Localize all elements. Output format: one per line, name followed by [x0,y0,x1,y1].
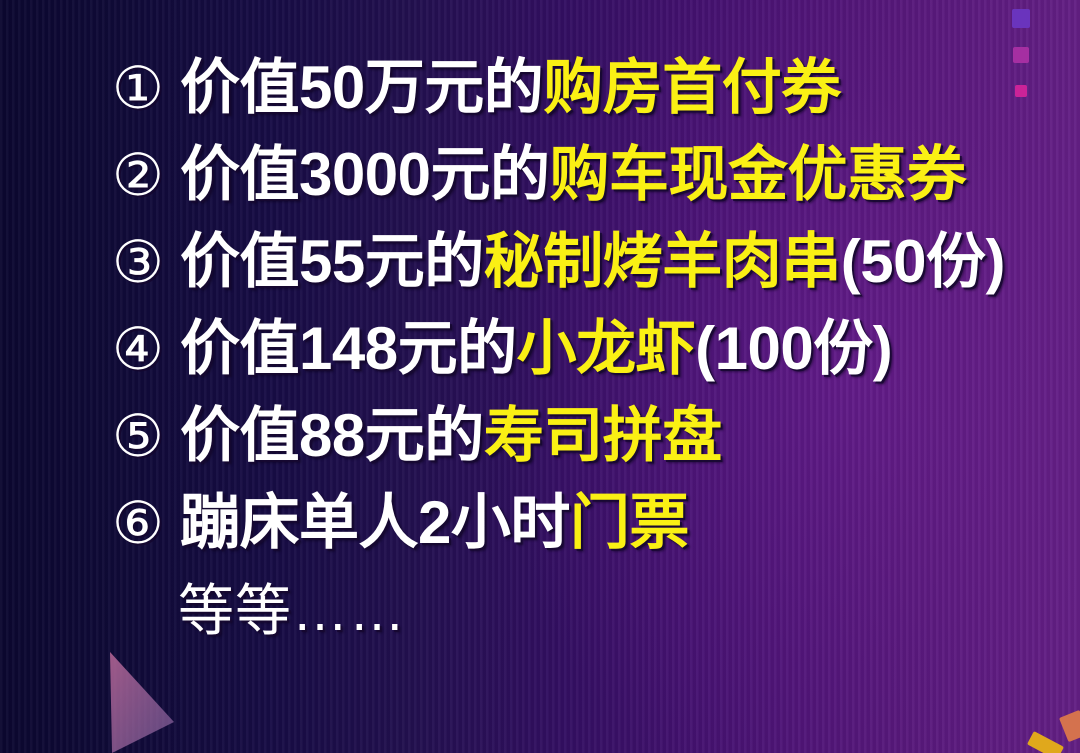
prize-list-item-5: ⑤ 价值88元的 寿司拼盘 [112,406,722,466]
promo-slide: ① 价值50万元的 购房首付券 ② 价值3000元的 购车现金优惠券 ③ 价值5… [0,0,1080,753]
prize-text-4a: 价值148元的 [180,319,517,379]
list-marker-1: ① [112,60,164,118]
prize-list-item-3: ③ 价值55元的 秘制烤羊肉串 (50份) [112,232,1005,292]
deco-triangle-pink-icon [104,652,176,753]
prize-list-item-4: ④ 价值148元的 小龙虾 (100份) [112,319,892,379]
prize-text-6b: 门票 [570,493,689,553]
deco-confetti-chip-orange-icon [1059,710,1080,742]
prize-text-6a: 蹦床单人2小时 [180,493,570,553]
prize-list-item-6: ⑥ 蹦床单人2小时 门票 [112,493,689,553]
prize-text-2b: 购车现金优惠券 [549,145,966,205]
prize-text-4b: 小龙虾 [517,319,696,379]
deco-square-purple-icon [1012,9,1030,28]
deco-square-magenta-icon [1013,47,1029,63]
prize-text-1a: 价值50万元的 [180,58,543,118]
list-marker-6: ⑥ [112,495,164,553]
prize-text-2a: 价值3000元的 [180,145,549,205]
list-marker-4: ④ [112,321,164,379]
list-marker-3: ③ [112,234,164,292]
deco-confetti-bar-yellow-icon [1027,731,1064,753]
prize-list-footer: 等等…… [178,583,406,639]
list-marker-2: ② [112,147,164,205]
list-marker-5: ⑤ [112,408,164,466]
prize-text-3a: 价值55元的 [180,232,484,292]
prize-text-3b: 秘制烤羊肉串 [484,232,841,292]
prize-list-item-2: ② 价值3000元的 购车现金优惠券 [112,145,966,205]
prize-text-5a: 价值88元的 [180,406,484,466]
prize-text-1b: 购房首付券 [543,58,841,118]
deco-square-pink-icon [1015,85,1027,97]
prize-text-3c: (50份) [841,232,1005,292]
prize-list-footer-text: 等等…… [178,579,406,642]
prize-text-4c: (100份) [695,319,892,379]
prize-list-item-1: ① 价值50万元的 购房首付券 [112,58,841,118]
prize-text-5b: 寿司拼盘 [484,406,722,466]
